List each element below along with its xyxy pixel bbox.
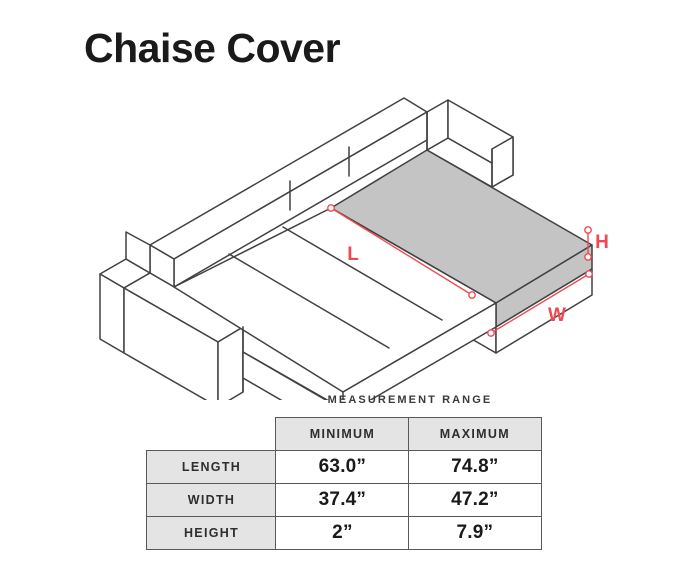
table-row: HEIGHT 2” 7.9”	[146, 516, 544, 550]
column-header-maximum: MAXIMUM	[408, 417, 542, 451]
height-maximum-value: 7.9”	[408, 516, 542, 550]
table-header-row: MINIMUM MAXIMUM	[146, 417, 544, 451]
measurement-range-caption: MEASUREMENT RANGE	[276, 394, 544, 406]
length-endpoint-end	[469, 292, 475, 298]
row-label-length: LENGTH	[146, 450, 277, 484]
left-arm-outer-face	[100, 274, 124, 353]
chaise-cover-diagram: L W H	[0, 0, 695, 400]
width-label: W	[548, 305, 566, 326]
height-label: H	[595, 232, 609, 253]
length-label: L	[347, 244, 359, 265]
length-minimum-value: 63.0”	[275, 450, 409, 484]
row-label-height: HEIGHT	[146, 516, 277, 550]
column-header-minimum: MINIMUM	[275, 417, 409, 451]
width-endpoint-end	[586, 271, 592, 277]
length-endpoint-start	[328, 205, 334, 211]
width-minimum-value: 37.4”	[275, 483, 409, 517]
table-corner-cell	[146, 417, 277, 451]
measurement-table: MINIMUM MAXIMUM LENGTH 63.0” 74.8” WIDTH…	[146, 417, 544, 551]
length-maximum-value: 74.8”	[408, 450, 542, 484]
page-root: Chaise Cover	[0, 0, 695, 586]
height-endpoint-top	[585, 227, 591, 233]
row-label-width: WIDTH	[146, 483, 277, 517]
width-maximum-value: 47.2”	[408, 483, 542, 517]
width-endpoint-start	[488, 330, 494, 336]
height-endpoint-bottom	[585, 254, 591, 260]
table-row: LENGTH 63.0” 74.8”	[146, 450, 544, 484]
height-minimum-value: 2”	[275, 516, 409, 550]
table-row: WIDTH 37.4” 47.2”	[146, 483, 544, 517]
